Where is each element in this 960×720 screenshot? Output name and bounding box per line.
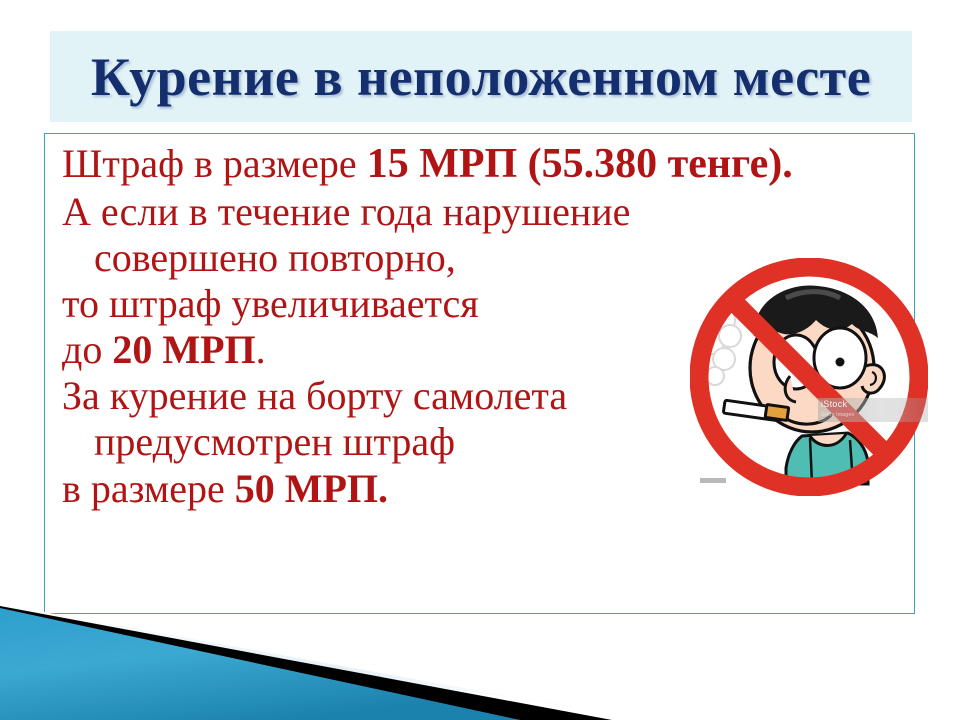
line-5-seg-2: . bbox=[256, 327, 266, 372]
line-1-seg-2: (55.380 bbox=[528, 141, 668, 187]
line-5: до 20 МРП. bbox=[62, 327, 902, 373]
line-6: За курение на борту самолета bbox=[62, 373, 902, 419]
line-1: Штраф в размере 15 МРП (55.380 тенге). bbox=[62, 140, 902, 189]
band-light bbox=[0, 604, 700, 720]
title-banner: Курение в неположенном месте bbox=[50, 31, 912, 122]
line-1-seg-3: тенге). bbox=[668, 141, 793, 187]
line-5-seg-0: до bbox=[62, 327, 112, 372]
line-8-seg-1: 50 МРП. bbox=[235, 466, 388, 511]
line-3-seg-0: совершено повторно, bbox=[94, 235, 456, 280]
line-8: в размере 50 МРП. bbox=[62, 466, 902, 512]
line-7: предусмотрен штраф bbox=[62, 419, 902, 465]
line-7-seg-0: предусмотрен штраф bbox=[94, 419, 455, 464]
line-1-seg-0: Штраф в размере bbox=[62, 141, 367, 186]
line-3: совершено повторно, bbox=[62, 235, 902, 281]
band-black bbox=[0, 606, 612, 720]
slide-canvas: Курение в неположенном месте bbox=[0, 0, 960, 720]
page-title: Курение в неположенном месте bbox=[91, 50, 871, 104]
line-5-seg-1: 20 МРП bbox=[112, 327, 255, 372]
line-6-seg-0: За курение на борту самолета bbox=[62, 373, 567, 418]
line-1-seg-1: 15 МРП bbox=[367, 141, 528, 187]
body-text-block: Штраф в размере 15 МРП (55.380 тенге).А … bbox=[62, 140, 902, 512]
line-4: то штраф увеличивается bbox=[62, 281, 902, 327]
line-8-seg-0: в размере bbox=[62, 466, 235, 511]
line-4-seg-0: то штраф увеличивается bbox=[62, 281, 479, 326]
watermark-dash bbox=[700, 478, 726, 483]
line-2: А если в течение года нарушение bbox=[62, 189, 902, 235]
line-2-seg-0: А если в течение года нарушение bbox=[62, 189, 630, 234]
band-teal bbox=[0, 608, 520, 720]
